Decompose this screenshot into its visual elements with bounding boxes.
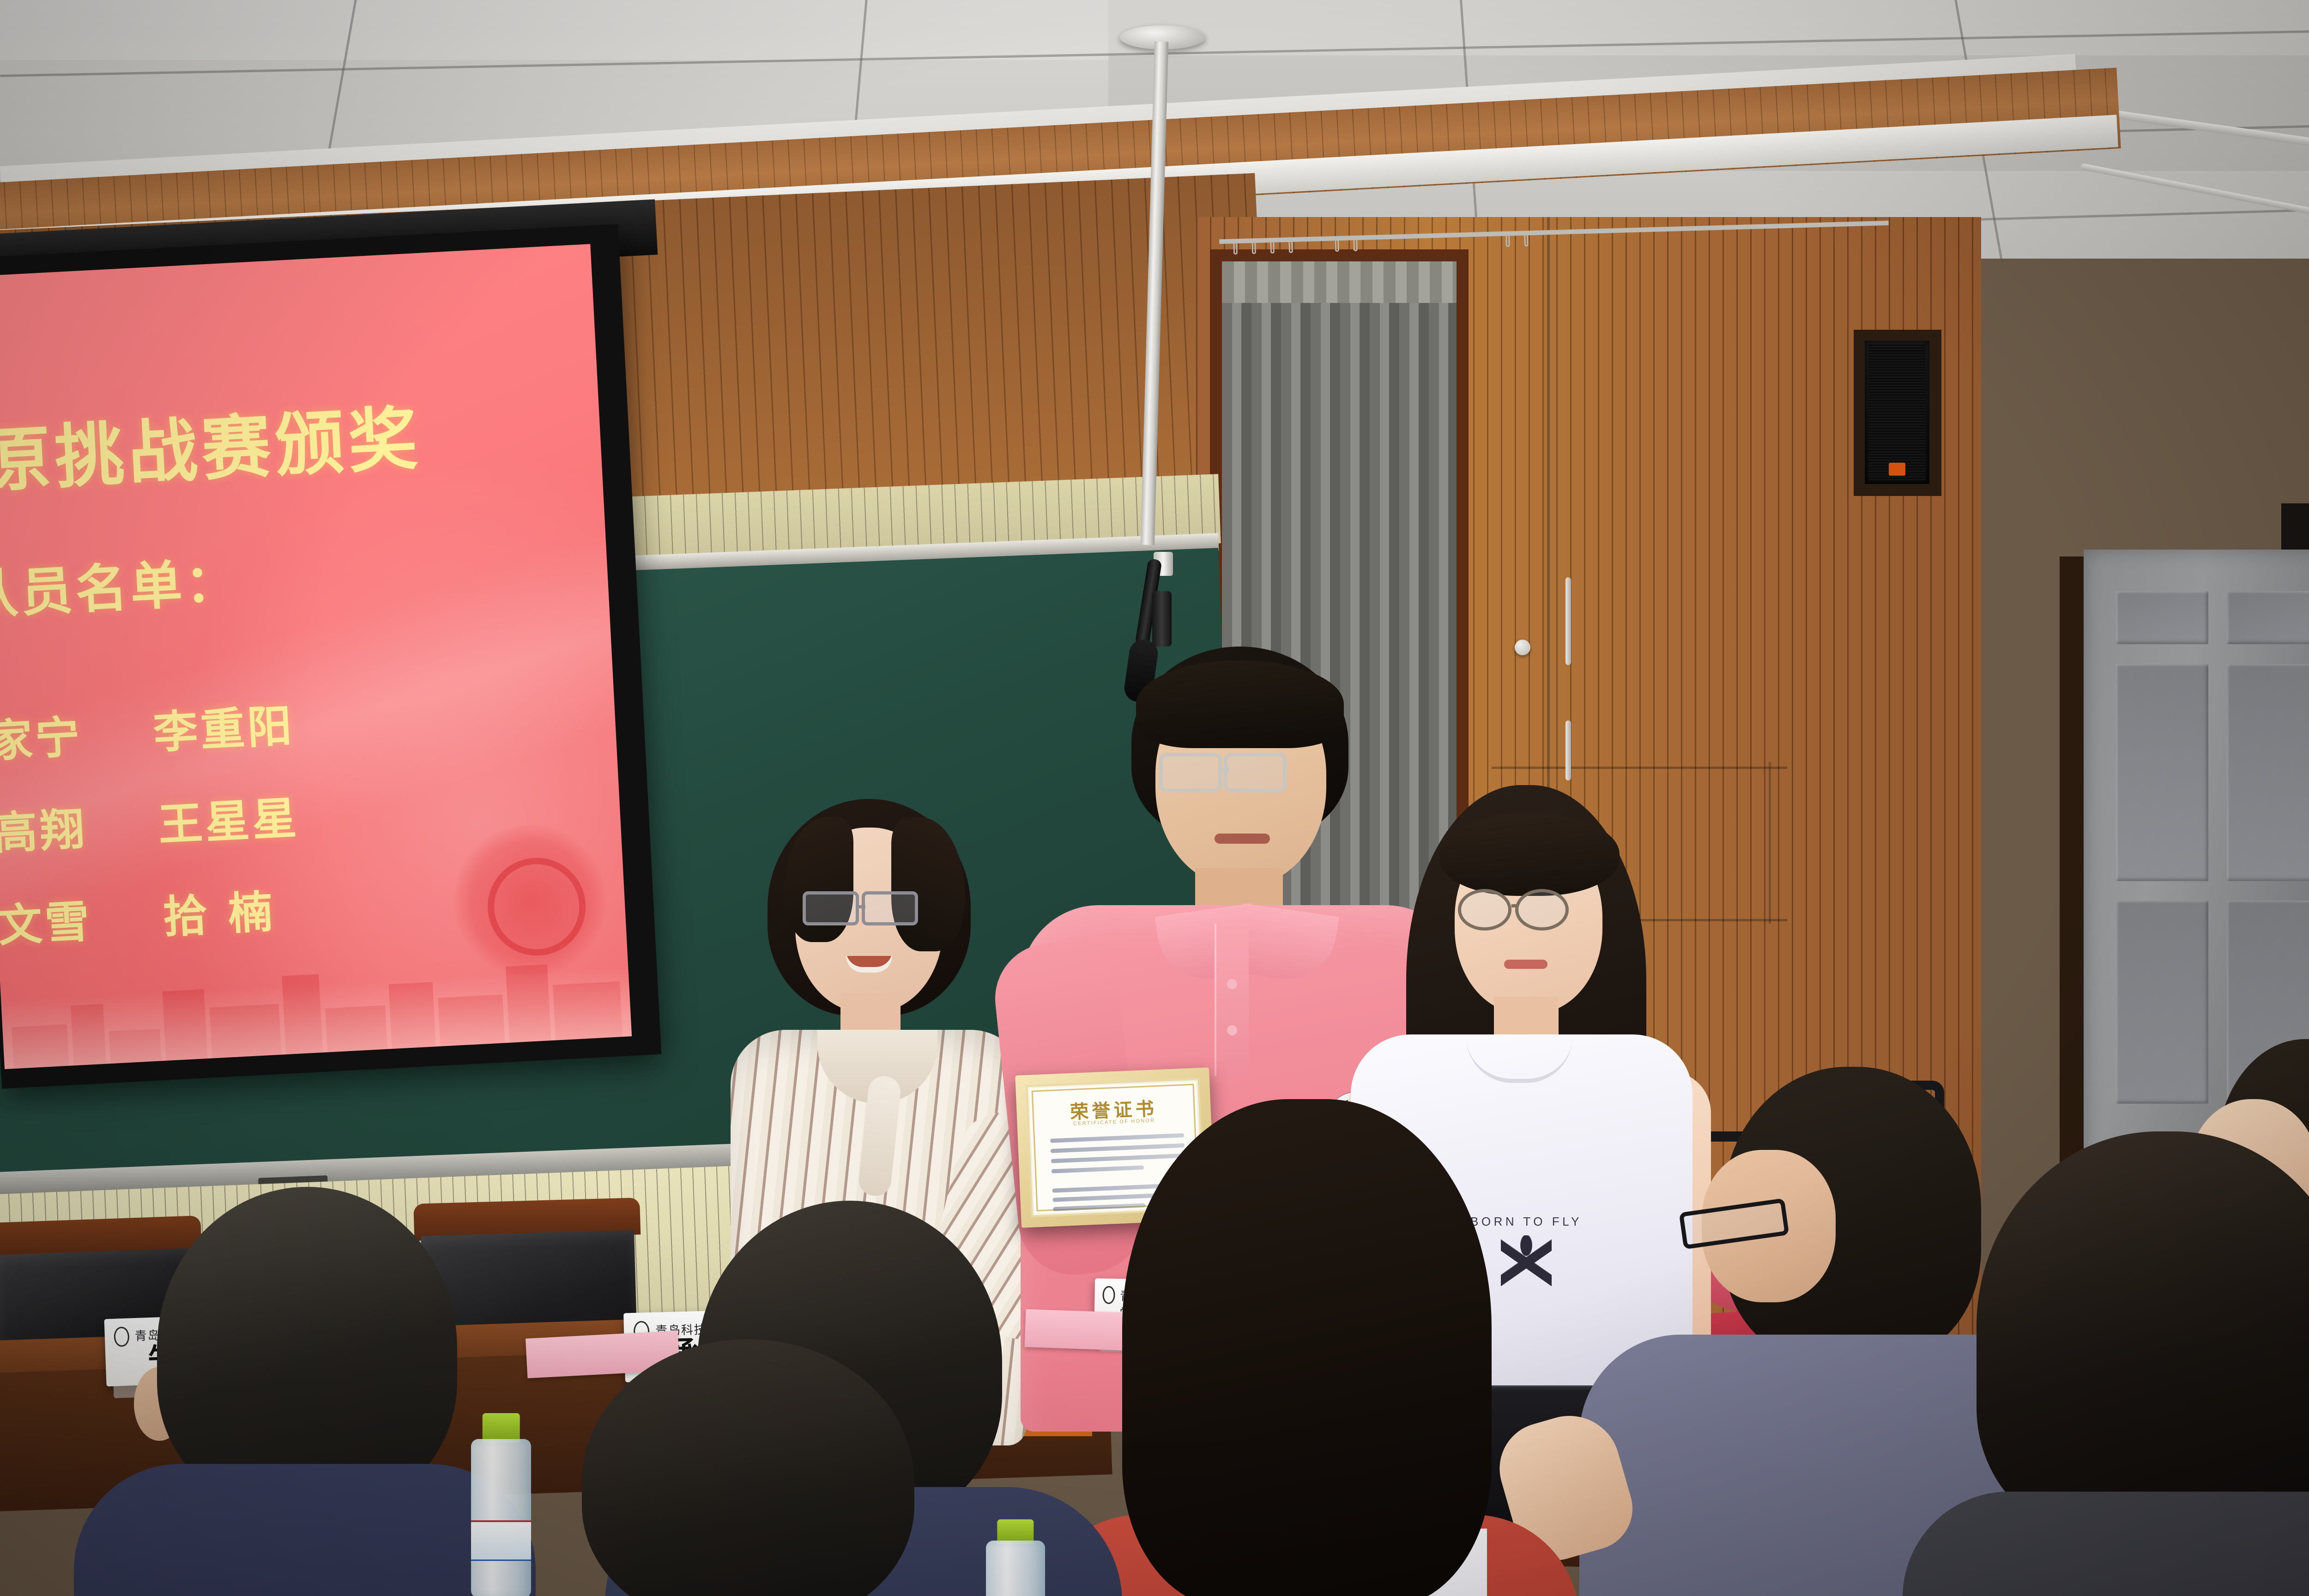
projector-screen-frame: 草原挑战赛颁奖 ”队员名单： 郭家宁李重阳 王高翔王星星 于文雪拾 楠 (0, 224, 661, 1088)
glasses-lens-right (1515, 889, 1569, 931)
water-bottle[interactable] (986, 1519, 1045, 1596)
bottle-label (471, 1520, 531, 1561)
bottle-cap (483, 1413, 520, 1443)
audience-member-left-front (74, 1187, 536, 1596)
jbl-logo (1889, 463, 1905, 476)
audience-member-right-curly (1930, 1131, 2309, 1596)
jbl-wall-speaker (1865, 341, 1929, 484)
projector-screen-surface: 草原挑战赛颁奖 ”队员名单： 郭家宁李重阳 王高翔王星星 于文雪拾 楠 (0, 244, 632, 1069)
slide-title: 草原挑战赛颁奖 (0, 382, 424, 509)
cabinet-handle-lower[interactable] (1566, 720, 1571, 780)
glasses-lens-left (1458, 889, 1511, 931)
slide-subtitle: ”队员名单： (0, 540, 242, 631)
bottle-cap (997, 1519, 1034, 1544)
glasses-lens-right (1224, 753, 1287, 792)
microphone-clip[interactable] (1152, 591, 1172, 647)
audience-member-left-bottom (526, 1339, 970, 1596)
cabinet-knob[interactable] (1515, 640, 1530, 655)
audience-member-center-longhair (1062, 1099, 1547, 1596)
glasses-lens-right (862, 891, 918, 925)
photo-scene: 草原挑战赛颁奖 ”队员名单： 郭家宁李重阳 王高翔王星星 于文雪拾 楠 (0, 0, 2309, 1596)
water-bottle[interactable] (471, 1413, 531, 1596)
glasses-lens-left (1159, 753, 1222, 792)
cabinet-handle-upper[interactable] (1566, 577, 1571, 665)
glasses-lens-left (803, 891, 859, 925)
